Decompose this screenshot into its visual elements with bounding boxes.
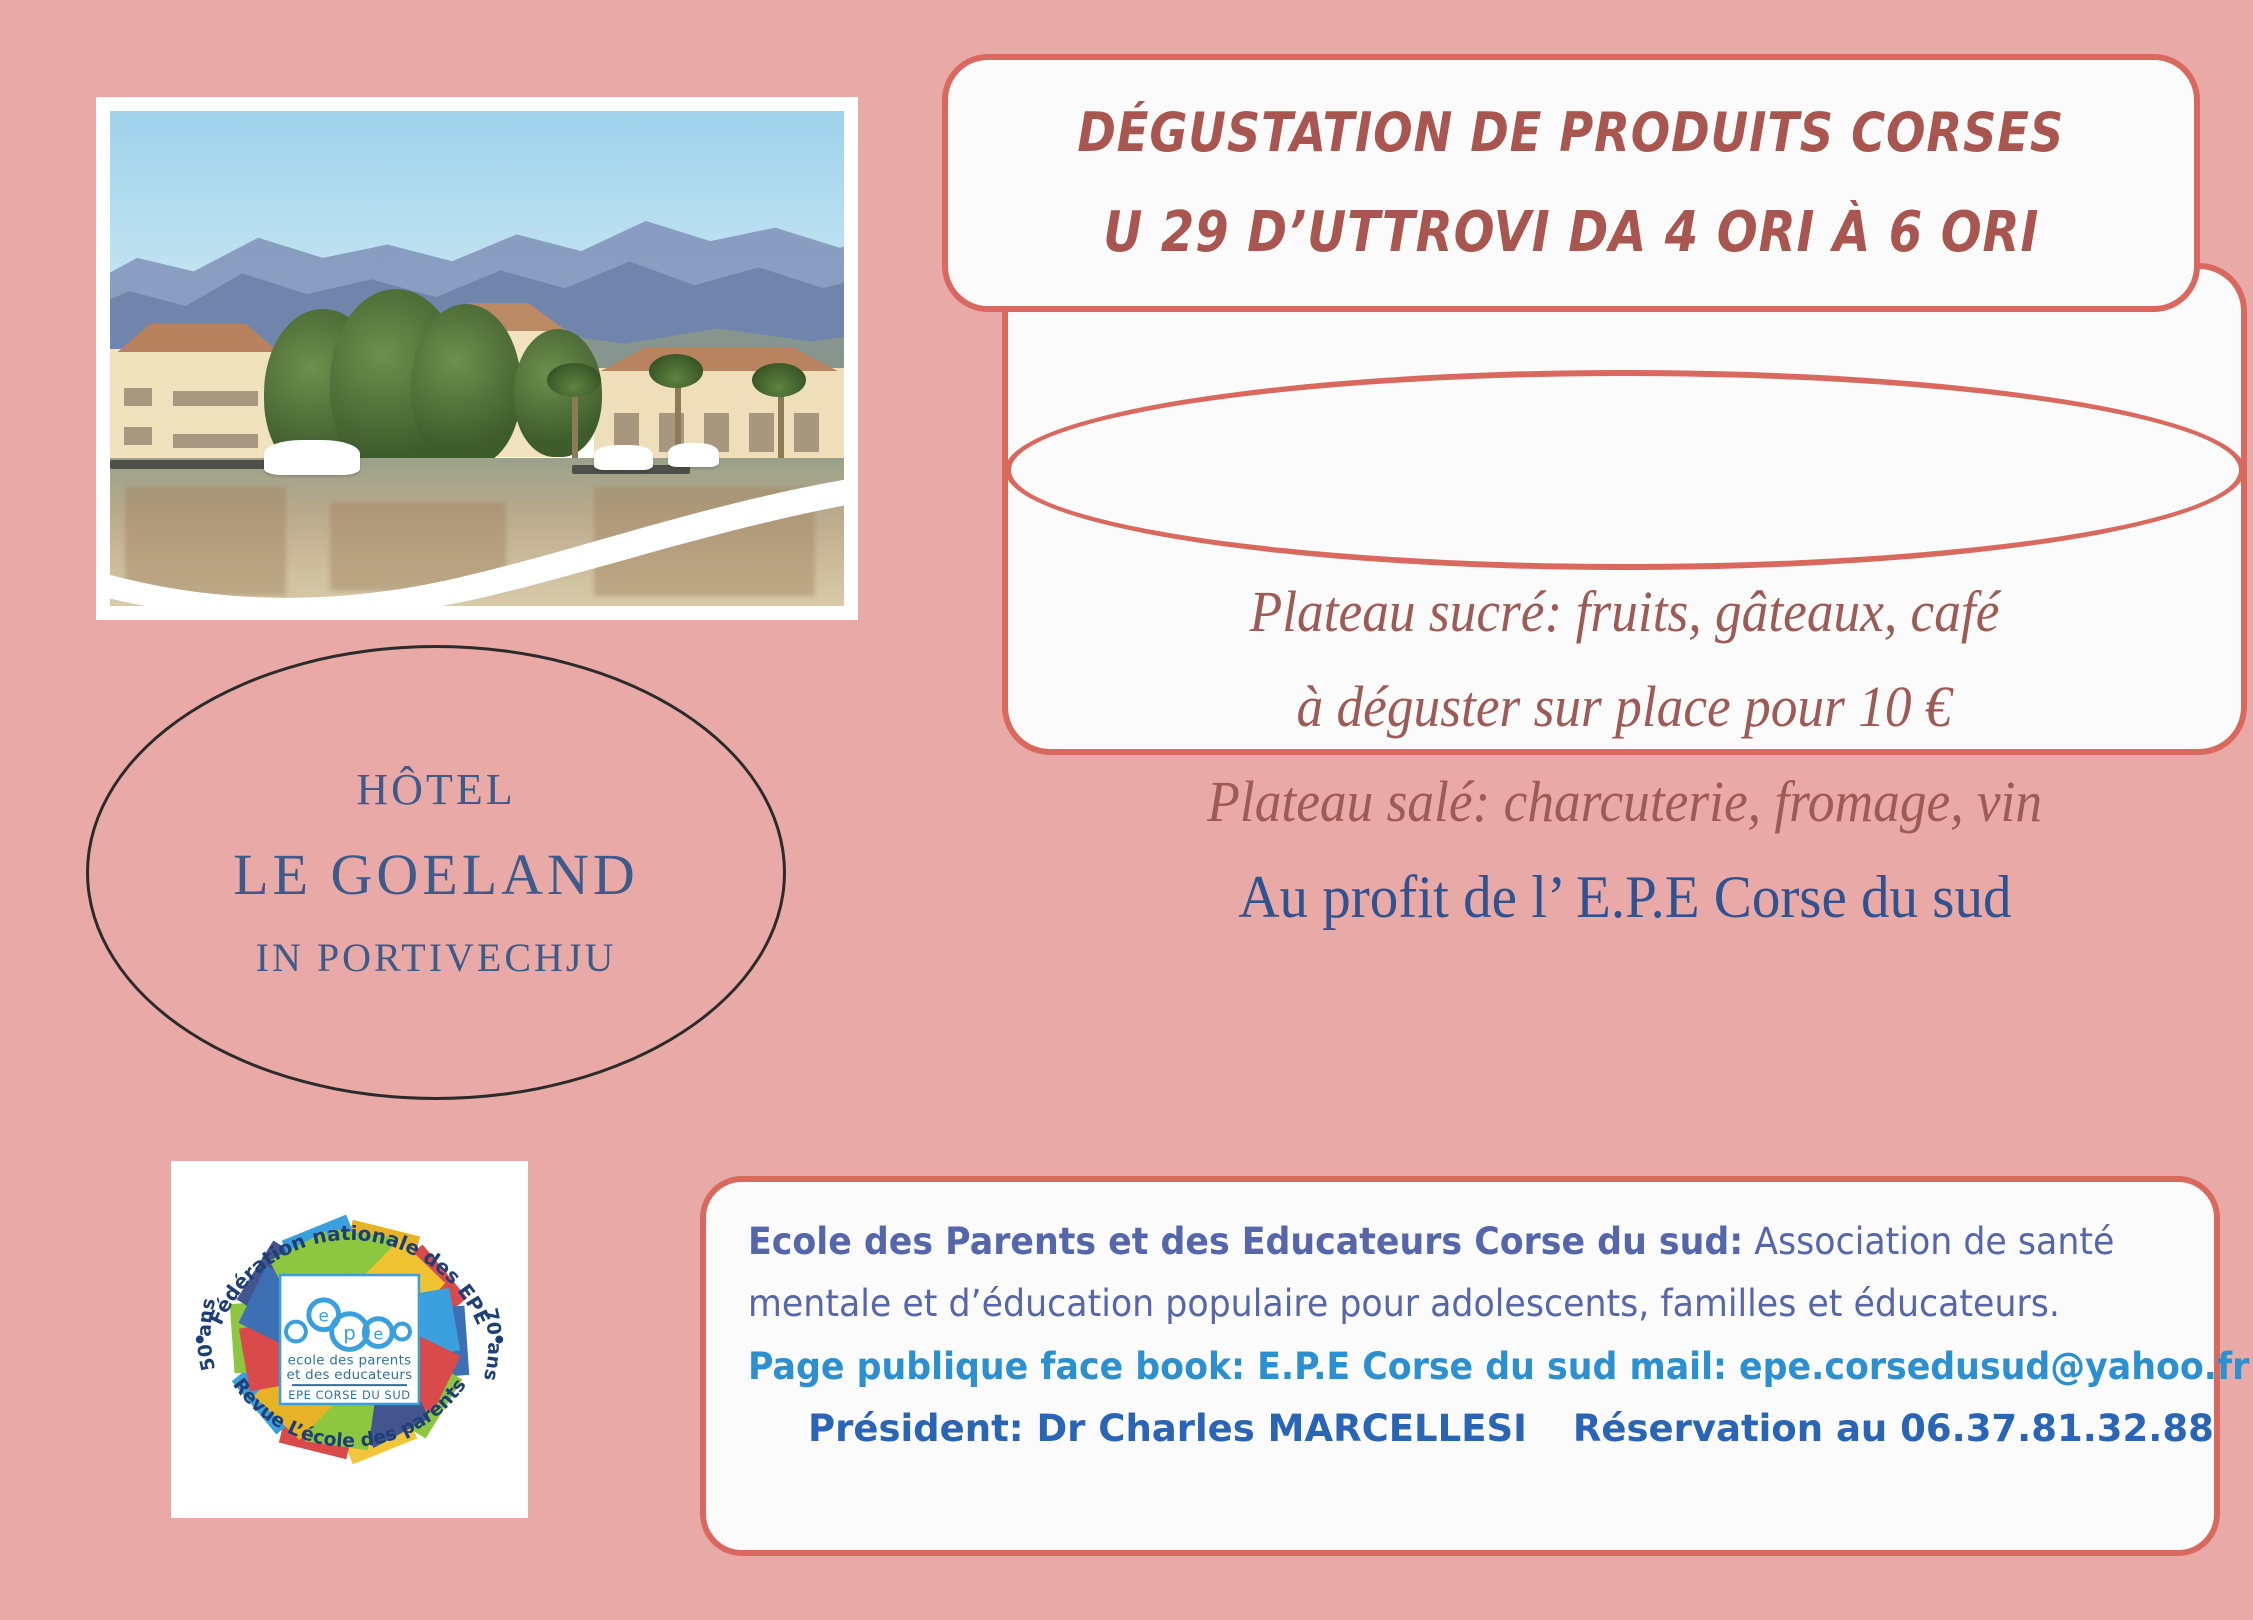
info-reservation[interactable]: Réservation au 06.37.81.32.88	[1573, 1407, 2214, 1450]
photo-boat	[594, 445, 653, 470]
svg-text:e: e	[373, 1325, 383, 1344]
svg-text:e: e	[319, 1306, 329, 1326]
photo-reflection	[594, 487, 814, 596]
hotel-name-oval: HÔTEL LE GOELAND IN PORTIVECHJU	[86, 645, 786, 1100]
info-president: Président: Dr Charles MARCELLESI	[808, 1407, 1527, 1450]
logo-arc-right: 70 ans	[479, 1306, 505, 1382]
photo-balcony	[173, 391, 258, 405]
info-contact-line[interactable]: Page publique face book: E.P.E Corse du …	[748, 1345, 2087, 1389]
title-headline: DÉGUSTATION DE PRODUITS CORSES	[1078, 101, 2065, 164]
logo-name-line2: et des educateurs	[287, 1368, 413, 1383]
photo-reflection	[125, 487, 286, 596]
photo-boat	[668, 443, 719, 468]
logo-bullet-right	[495, 1336, 503, 1344]
epe-logo: e p e ecole des parents et des educateur…	[171, 1161, 528, 1518]
photo-boat	[264, 440, 359, 475]
info-association-tagline: Association de santé	[1743, 1220, 2114, 1263]
menu-beneficiary: Au profit de l’ E.P.E Corse du sud	[1238, 863, 2011, 932]
menu-price: à déguster sur place pour 10 €	[1297, 673, 1952, 740]
photo-tree	[411, 304, 521, 467]
title-date-time: U 29 D’UTTROVI DA 4 ORI À 6 ORI	[1103, 200, 2039, 265]
logo-arc-left: 50 ans	[195, 1296, 221, 1372]
info-association-description: Ecole des Parents et des Educateurs Cors…	[748, 1220, 2087, 1264]
photo-window	[794, 413, 819, 452]
info-president-reservation: Président: Dr Charles MARCELLESIRéservat…	[748, 1407, 2172, 1451]
hotel-photo-frame	[96, 97, 858, 620]
menu-savory-platter: Plateau salé: charcuterie, fromage, vin	[1207, 768, 2042, 835]
menu-text-group: Plateau sucré: fruits, gâteaux, café à d…	[1002, 570, 2247, 1070]
info-association-description-cont: mentale et d’éducation populaire pour ad…	[748, 1282, 2087, 1326]
svg-text:p: p	[343, 1322, 356, 1345]
info-association-name: Ecole des Parents et des Educateurs Cors…	[748, 1220, 1743, 1263]
photo-dock	[110, 460, 271, 469]
poster-canvas: HÔTEL LE GOELAND IN PORTIVECHJU	[0, 0, 2253, 1620]
photo-reflection	[330, 502, 506, 591]
logo-bullet-left	[196, 1336, 204, 1344]
info-box: Ecole des Parents et des Educateurs Cors…	[700, 1176, 2220, 1556]
logo-name-line1: ecole des parents	[288, 1353, 412, 1368]
title-box: DÉGUSTATION DE PRODUITS CORSES U 29 D’UT…	[942, 54, 2200, 312]
hotel-name: LE GOELAND	[233, 841, 639, 908]
hotel-location: IN PORTIVECHJU	[256, 934, 617, 981]
hotel-photo	[110, 111, 844, 606]
photo-window	[749, 413, 774, 452]
menu-sweet-platter: Plateau sucré: fruits, gâteaux, café	[1250, 578, 2000, 645]
photo-window	[124, 388, 152, 406]
photo-balcony	[173, 434, 258, 448]
logo-name-line3: EPE CORSE DU SUD	[288, 1388, 410, 1402]
hotel-label-hotel: HÔTEL	[356, 764, 515, 815]
photo-palm-crown	[649, 354, 703, 388]
photo-window	[124, 427, 152, 445]
